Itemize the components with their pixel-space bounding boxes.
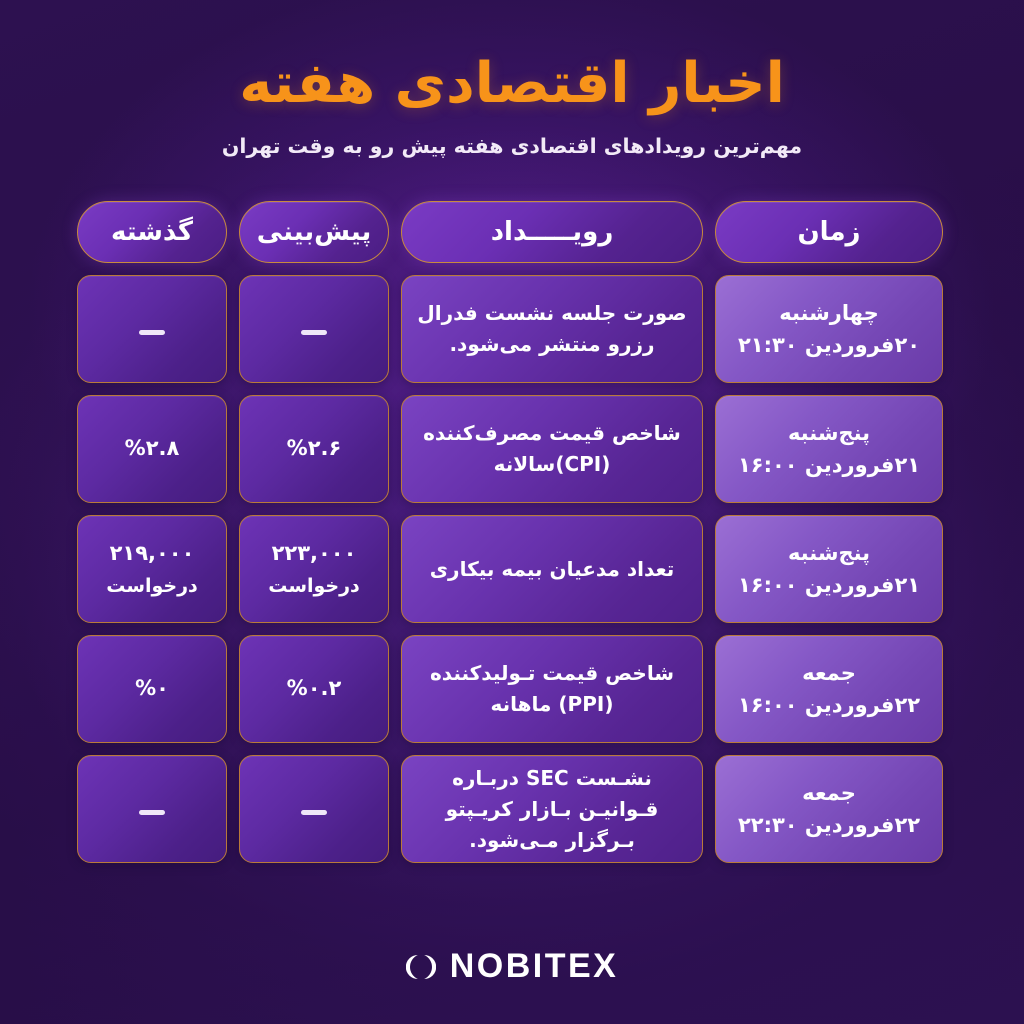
- table-row: پنج‌شنبه ۲۱فروردین ۱۶:۰۰ تعداد مدعیان بی…: [81, 515, 943, 623]
- cell-forecast: %۰.۲: [239, 635, 389, 743]
- cell-time: جمعه ۲۲فروردین ۲۲:۳۰: [715, 755, 943, 863]
- table-row: جمعه ۲۲فروردین ۲۲:۳۰ نشـست SEC دربـاره ق…: [81, 755, 943, 863]
- column-header-forecast: پیش‌بینی: [239, 201, 389, 263]
- cell-forecast: %۲.۶: [239, 395, 389, 503]
- cell-time: جمعه ۲۲فروردین ۱۶:۰۰: [715, 635, 943, 743]
- time-date: ۲۱فروردین ۱۶:۰۰: [738, 573, 920, 597]
- empty-value-dash: [301, 330, 327, 335]
- table-row: جمعه ۲۲فروردین ۱۶:۰۰ شاخص قیمت تـولیدکنن…: [81, 635, 943, 743]
- cell-forecast: ۲۲۳,۰۰۰ درخواست: [239, 515, 389, 623]
- column-header-time: زمان: [715, 201, 943, 263]
- forecast-value: ۲۲۳,۰۰۰: [268, 538, 360, 570]
- forecast-value: [301, 313, 327, 345]
- cell-past: ۲۱۹,۰۰۰ درخواست: [77, 515, 227, 623]
- time-day: چهارشنبه: [779, 301, 879, 325]
- time-day: جمعه: [802, 661, 856, 685]
- time-day: پنج‌شنبه: [788, 541, 870, 565]
- past-value: [139, 793, 165, 825]
- cell-time: چهارشنبه ۲۰فروردین ۲۱:۳۰: [715, 275, 943, 383]
- cell-forecast: [239, 275, 389, 383]
- cell-time: پنج‌شنبه ۲۱فروردین ۱۶:۰۰: [715, 515, 943, 623]
- time-date: ۲۰فروردین ۲۱:۳۰: [738, 333, 920, 357]
- cell-forecast: [239, 755, 389, 863]
- poster-header: اخبار اقتصادی هفته مهم‌ترین رویدادهای اق…: [0, 0, 1024, 161]
- footer-brand: NOBITEX: [0, 947, 1024, 986]
- past-value: %۲.۸: [125, 433, 180, 465]
- past-value: [139, 313, 165, 345]
- table-row: پنج‌شنبه ۲۱فروردین ۱۶:۰۰ شاخص قیمت مصرف‌…: [81, 395, 943, 503]
- past-unit: درخواست: [106, 572, 198, 601]
- cell-event: نشـست SEC دربـاره قـوانیـن بـازار کریـپت…: [401, 755, 703, 863]
- page-title: اخبار اقتصادی هفته: [0, 52, 1024, 116]
- past-value: %۰: [135, 673, 169, 705]
- cell-past: [77, 755, 227, 863]
- cell-event: تعداد مدعیان بیمه بیکاری: [401, 515, 703, 623]
- cell-time: پنج‌شنبه ۲۱فروردین ۱۶:۰۰: [715, 395, 943, 503]
- economic-calendar-table: زمان رویـــــداد پیش‌بینی گذشته چهارشنبه…: [81, 201, 943, 863]
- forecast-value: %۲.۶: [287, 433, 342, 465]
- column-header-past: گذشته: [77, 201, 227, 263]
- forecast-value: [301, 793, 327, 825]
- table-header-row: زمان رویـــــداد پیش‌بینی گذشته: [81, 201, 943, 263]
- nobitex-logo-icon: [406, 952, 436, 982]
- cell-event: شاخص قیمت تـولیدکننده (PPI) ماهانه: [401, 635, 703, 743]
- time-date: ۲۲فروردین ۲۲:۳۰: [738, 813, 920, 837]
- cell-past: [77, 275, 227, 383]
- poster-canvas: اخبار اقتصادی هفته مهم‌ترین رویدادهای اق…: [0, 0, 1024, 1024]
- time-date: ۲۲فروردین ۱۶:۰۰: [738, 693, 920, 717]
- time-day: جمعه: [802, 781, 856, 805]
- cell-event: صورت جلسه نشست فدرال رزرو منتشر می‌شود.: [401, 275, 703, 383]
- brand-name: NOBITEX: [450, 947, 619, 986]
- cell-past: %۰: [77, 635, 227, 743]
- empty-value-dash: [139, 330, 165, 335]
- table-row: چهارشنبه ۲۰فروردین ۲۱:۳۰ صورت جلسه نشست …: [81, 275, 943, 383]
- forecast-unit: درخواست: [268, 572, 360, 601]
- empty-value-dash: [301, 810, 327, 815]
- past-value: ۲۱۹,۰۰۰: [106, 538, 198, 570]
- cell-past: %۲.۸: [77, 395, 227, 503]
- time-day: پنج‌شنبه: [788, 421, 870, 445]
- column-header-event: رویـــــداد: [401, 201, 703, 263]
- page-subtitle: مهم‌ترین رویدادهای اقتصادی هفته پیش رو ب…: [0, 132, 1024, 161]
- empty-value-dash: [139, 810, 165, 815]
- cell-event: شاخص قیمت مصرف‌کننده (CPI)سالانه: [401, 395, 703, 503]
- time-date: ۲۱فروردین ۱۶:۰۰: [738, 453, 920, 477]
- forecast-value: %۰.۲: [287, 673, 342, 705]
